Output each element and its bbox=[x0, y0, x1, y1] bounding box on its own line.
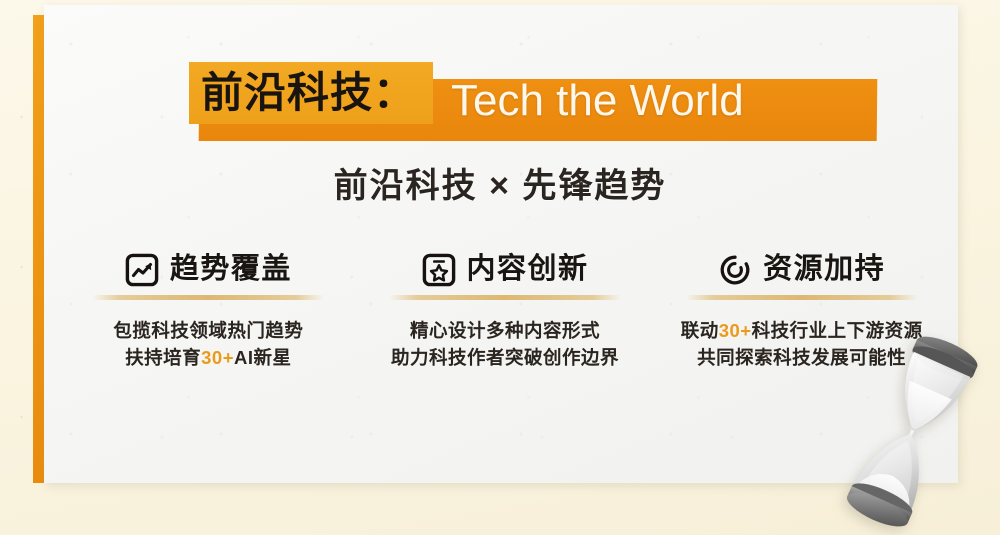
feature-body: 精心设计多种内容形式 助力科技作者突破创作边界 bbox=[391, 317, 619, 371]
feature-heading: 内容创新 bbox=[422, 252, 589, 293]
feature-line-2-b: AI新星 bbox=[234, 347, 292, 368]
trending-up-icon bbox=[125, 253, 159, 287]
feature-underline bbox=[389, 295, 621, 300]
feature-heading: 趋势覆盖 bbox=[125, 252, 292, 293]
star-frame-icon bbox=[422, 253, 456, 287]
feature-column-trend: 趋势覆盖 包揽科技领域热门趋势 扶持培育30+AI新星 bbox=[60, 252, 357, 371]
title-chinese: 前沿科技： bbox=[201, 67, 416, 119]
feature-title: 内容创新 bbox=[467, 252, 589, 286]
feature-title: 资源加持 bbox=[763, 252, 885, 286]
feature-line-1: 包揽科技领域热门趋势 bbox=[113, 317, 303, 344]
feature-line-2: 助力科技作者突破创作边界 bbox=[391, 344, 619, 371]
feature-underline bbox=[92, 295, 324, 300]
feature-body: 包揽科技领域热门趋势 扶持培育30+AI新星 bbox=[113, 317, 303, 371]
feature-line-2: 扶持培育30+AI新星 bbox=[113, 344, 303, 371]
feature-title: 趋势覆盖 bbox=[170, 252, 292, 286]
feature-columns: 趋势覆盖 包揽科技领域热门趋势 扶持培育30+AI新星 内容创新 精心设计多种内… bbox=[60, 252, 950, 371]
subtitle: 前沿科技 × 先锋趋势 bbox=[0, 158, 1000, 207]
feature-column-content: 内容创新 精心设计多种内容形式 助力科技作者突破创作边界 bbox=[357, 252, 654, 371]
title-english: Tech the World bbox=[451, 76, 744, 126]
feature-line-1-a: 联动 bbox=[681, 320, 719, 341]
hourglass-graphic bbox=[828, 330, 996, 535]
feature-heading: 资源加持 bbox=[718, 252, 885, 293]
feature-line-1-highlight: 30+ bbox=[719, 320, 752, 341]
feature-line-2-highlight: 30+ bbox=[201, 347, 234, 368]
feature-line-1: 精心设计多种内容形式 bbox=[391, 317, 619, 344]
feature-line-2-a: 扶持培育 bbox=[125, 347, 201, 368]
refresh-circle-icon bbox=[718, 253, 752, 287]
feature-underline bbox=[686, 295, 918, 300]
